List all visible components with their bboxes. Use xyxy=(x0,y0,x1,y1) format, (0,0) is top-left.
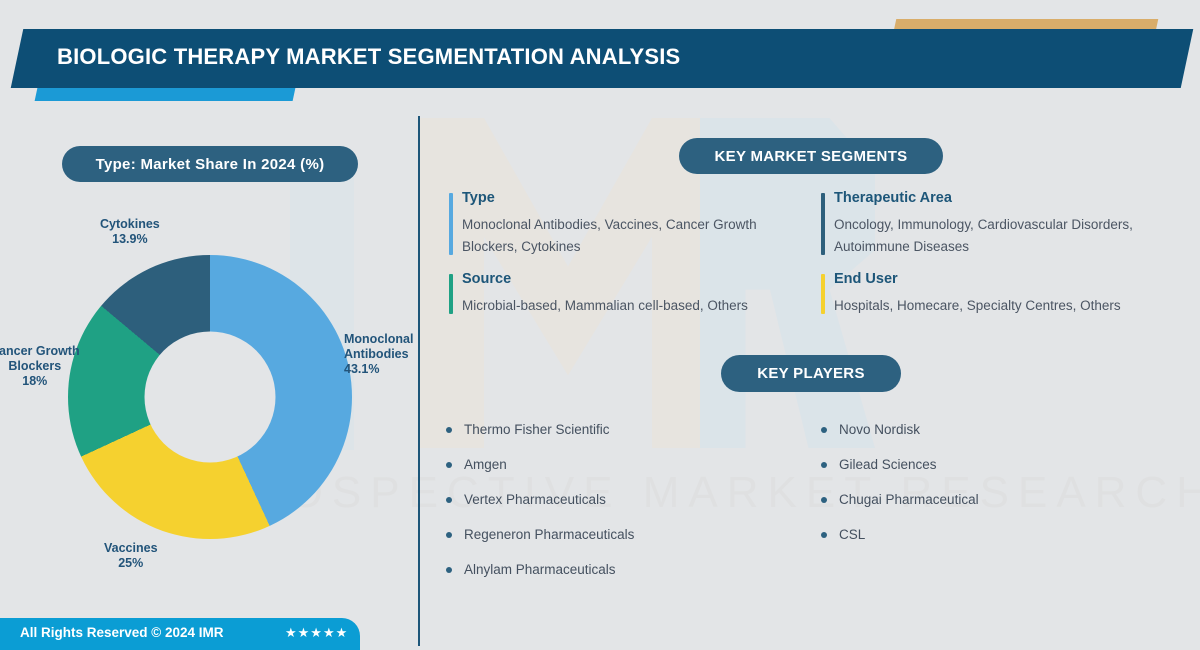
bullet-icon xyxy=(821,497,827,503)
slice-label-line1: Vaccines xyxy=(104,541,158,556)
player-name: Vertex Pharmaceuticals xyxy=(464,492,606,507)
bullet-icon xyxy=(821,532,827,538)
bullet-icon xyxy=(821,427,827,433)
slice-label-value: 43.1% xyxy=(344,362,413,377)
slice-label-line1: Cancer Growth xyxy=(0,344,80,359)
list-item: Gilead Sciences xyxy=(821,447,979,482)
bullet-icon xyxy=(446,567,452,573)
list-item: Alnylam Pharmaceuticals xyxy=(446,552,634,587)
bullet-icon xyxy=(446,532,452,538)
key-market-segments-badge: KEY MARKET SEGMENTS xyxy=(679,138,943,174)
segment-accent-bar xyxy=(449,274,453,314)
slice-label-line1: Cytokines xyxy=(100,217,160,232)
slice-label-value: 25% xyxy=(104,556,158,571)
segment-title: Type xyxy=(462,190,762,206)
segment-card-therapeutic-area: Therapeutic Area Oncology, Immunology, C… xyxy=(821,190,1134,258)
slice-label-cytokines: Cytokines 13.9% xyxy=(100,217,160,247)
header-cyan-accent xyxy=(35,88,296,101)
segment-accent-bar xyxy=(821,193,825,255)
list-item: Novo Nordisk xyxy=(821,412,979,447)
key-players-badge: KEY PLAYERS xyxy=(721,355,901,392)
segment-title: Therapeutic Area xyxy=(834,190,1134,206)
player-name: Thermo Fisher Scientific xyxy=(464,422,610,437)
footer-copyright: All Rights Reserved © 2024 IMR xyxy=(20,625,224,640)
page-title: BIOLOGIC THERAPY MARKET SEGMENTATION ANA… xyxy=(57,44,680,70)
list-item: Vertex Pharmaceuticals xyxy=(446,482,634,517)
key-players-left-column: Thermo Fisher ScientificAmgenVertex Phar… xyxy=(446,412,634,587)
segment-title: End User xyxy=(834,271,1121,287)
segment-accent-bar xyxy=(449,193,453,255)
slice-label-value: 13.9% xyxy=(100,232,160,247)
slice-label-line1: Monoclonal xyxy=(344,332,413,347)
segment-body: Hospitals, Homecare, Specialty Centres, … xyxy=(834,295,1121,317)
bullet-icon xyxy=(446,462,452,468)
list-item: Thermo Fisher Scientific xyxy=(446,412,634,447)
player-name: Amgen xyxy=(464,457,507,472)
segment-card-source: Source Microbial-based, Mammalian cell-b… xyxy=(449,271,748,317)
bullet-icon xyxy=(446,427,452,433)
player-name: Alnylam Pharmaceuticals xyxy=(464,562,616,577)
slice-label-vaccines: Vaccines 25% xyxy=(104,541,158,571)
center-divider xyxy=(418,116,420,646)
segment-body: Oncology, Immunology, Cardiovascular Dis… xyxy=(834,214,1134,258)
player-name: Novo Nordisk xyxy=(839,422,920,437)
segment-card-end-user: End User Hospitals, Homecare, Specialty … xyxy=(821,271,1121,317)
chart-title-badge: Type: Market Share In 2024 (%) xyxy=(62,146,358,182)
donut-chart xyxy=(68,255,352,539)
player-name: Chugai Pharmaceutical xyxy=(839,492,979,507)
segment-title: Source xyxy=(462,271,748,287)
segment-body: Microbial-based, Mammalian cell-based, O… xyxy=(462,295,748,317)
player-name: Regeneron Pharmaceuticals xyxy=(464,527,634,542)
slice-label-value: 18% xyxy=(0,374,80,389)
slice-label-cancer-growth-blockers: Cancer Growth Blockers 18% xyxy=(0,344,80,389)
key-players-right-column: Novo NordiskGilead SciencesChugai Pharma… xyxy=(821,412,979,552)
list-item: Chugai Pharmaceutical xyxy=(821,482,979,517)
segment-card-type: Type Monoclonal Antibodies, Vaccines, Ca… xyxy=(449,190,762,258)
player-name: CSL xyxy=(839,527,865,542)
slice-label-monoclonal-antibodies: Monoclonal Antibodies 43.1% xyxy=(344,332,413,377)
list-item: Regeneron Pharmaceuticals xyxy=(446,517,634,552)
list-item: Amgen xyxy=(446,447,634,482)
segment-body: Monoclonal Antibodies, Vaccines, Cancer … xyxy=(462,214,762,258)
list-item: CSL xyxy=(821,517,979,552)
star-rating-icon: ★★★★★ xyxy=(285,625,348,641)
donut-hole xyxy=(145,332,276,463)
bullet-icon xyxy=(446,497,452,503)
player-name: Gilead Sciences xyxy=(839,457,937,472)
segment-accent-bar xyxy=(821,274,825,314)
slice-label-line2: Antibodies xyxy=(344,347,413,362)
slice-label-line2: Blockers xyxy=(0,359,80,374)
bullet-icon xyxy=(821,462,827,468)
